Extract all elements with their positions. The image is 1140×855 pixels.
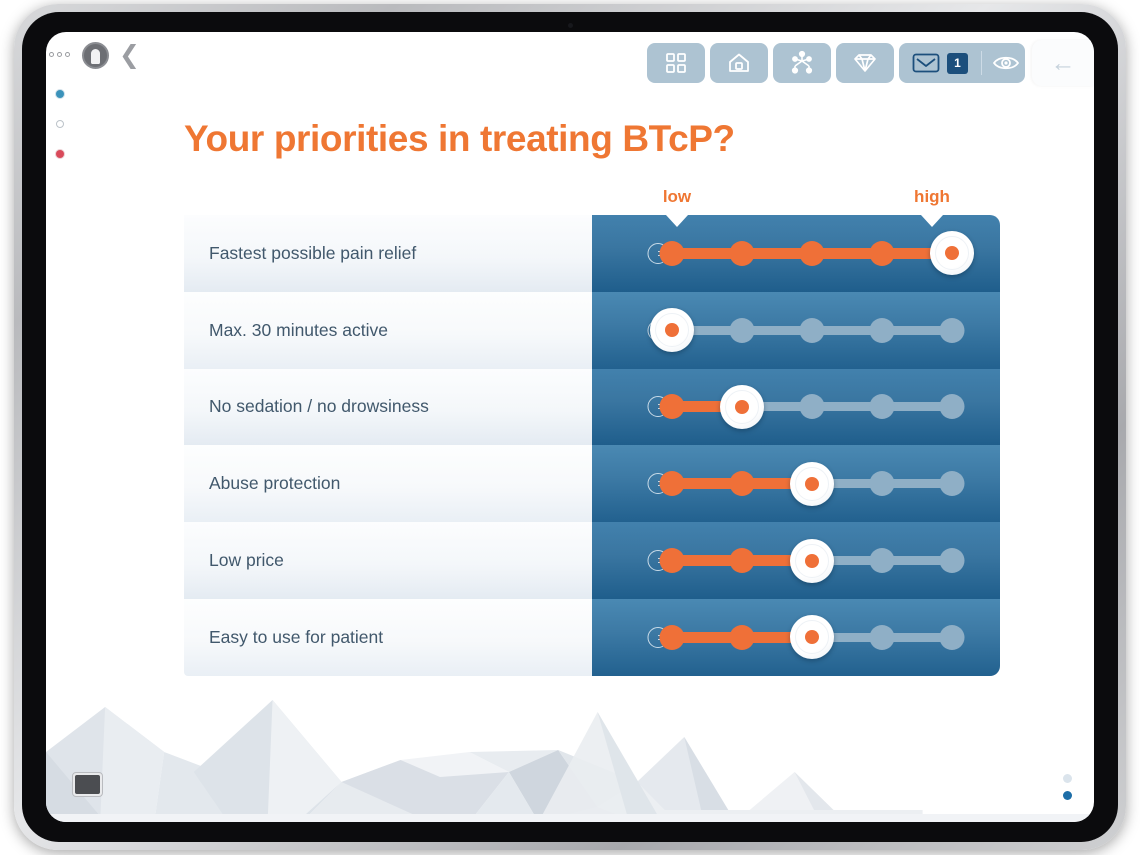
slider-stop-dot[interactable] [870,241,895,266]
slider-stop-dot[interactable] [730,471,755,496]
page-indicator-dots [1063,774,1072,800]
scale-label-high: high [914,187,950,207]
dot [65,52,70,57]
slider-knob-dot [665,323,679,337]
mail-badge: 1 [947,53,968,74]
window-icon-inner [75,775,100,794]
priority-slider[interactable] [592,522,1000,599]
slider-stop-dot[interactable] [870,318,895,343]
slider-knob-dot [805,554,819,568]
scale-notch-high [921,215,943,227]
slider-knob[interactable] [650,308,694,352]
row-slider-cell [592,599,1000,676]
row-label-cell: Low price [184,522,592,599]
left-rail [56,90,74,180]
slider-stop-dot[interactable] [870,548,895,573]
slider-stop-dot[interactable] [660,394,685,419]
slider-stop-dot[interactable] [660,548,685,573]
slider-stop-dot[interactable] [940,318,965,343]
slider-stop-dot[interactable] [800,241,825,266]
mail-button[interactable]: 1 [899,43,1025,83]
slider-stop-dot[interactable] [940,548,965,573]
row-label: Abuse protection [209,473,340,494]
slider-stop-dot[interactable] [660,241,685,266]
app-topbar: ❮ [46,32,1094,94]
slider-knob-dot [805,630,819,644]
row-label: Fastest possible pain relief [209,243,416,264]
slider-stop-dot[interactable] [730,318,755,343]
page-title: Your priorities in treating BTcP? [184,118,735,160]
slider-stop-dot[interactable] [660,471,685,496]
slider-stop-dot[interactable] [870,471,895,496]
slider-stop-dot[interactable] [660,625,685,650]
home-button[interactable] [710,43,768,83]
diamond-button[interactable] [836,43,894,83]
row-label-cell: Abuse protection [184,445,592,522]
slider-stop-dot[interactable] [800,318,825,343]
diamond-icon [851,50,879,76]
arrow-left-icon: ← [1051,51,1076,75]
slider-knob[interactable] [930,231,974,275]
network-button[interactable] [773,43,831,83]
row-slider-cell [592,522,1000,599]
row-label: Low price [209,550,284,571]
back-chevron-icon[interactable]: ❮ [119,44,141,68]
matrix-row: Max. 30 minutes active [184,292,1000,369]
slider-knob[interactable] [720,385,764,429]
page-dot-active[interactable] [1063,791,1072,800]
row-label-cell: Easy to use for patient [184,599,592,676]
app-logo-icon[interactable] [82,42,109,69]
device-bezel: ❮ [22,12,1118,842]
rail-dot-empty[interactable] [56,120,64,128]
page-dot-inactive[interactable] [1063,774,1072,783]
tablet-device-frame: ❮ [14,4,1126,850]
row-label: No sedation / no drowsiness [209,396,429,417]
rail-dot-blue[interactable] [56,90,64,98]
rail-dot-red[interactable] [56,150,64,158]
row-label-cell: Max. 30 minutes active [184,292,592,369]
toolbar-divider [981,51,982,75]
network-icon [788,50,816,76]
mail-icon [911,51,941,75]
slider-knob-dot [735,400,749,414]
slider-track-inactive [742,402,952,411]
scale-notch-low [666,215,688,227]
row-slider-cell [592,369,1000,446]
back-arrow-button[interactable]: ← [1032,40,1094,86]
matrix-row: Fastest possible pain relief [184,215,1000,292]
row-label-cell: Fastest possible pain relief [184,215,592,292]
matrix-row: Easy to use for patient [184,599,1000,676]
slider-knob-dot [805,477,819,491]
slider-stop-dot[interactable] [940,471,965,496]
slider-knob[interactable] [790,615,834,659]
eye-icon[interactable] [991,51,1021,75]
slider-knob[interactable] [790,462,834,506]
more-options-icon[interactable] [49,52,70,57]
slider-stop-dot[interactable] [870,394,895,419]
slider-stop-dot[interactable] [940,625,965,650]
row-label: Max. 30 minutes active [209,320,388,341]
slider-stop-dot[interactable] [730,241,755,266]
dot [49,52,54,57]
grid-button[interactable] [647,43,705,83]
row-slider-cell [592,292,1000,369]
scale-label-low: low [663,187,691,207]
toolbar: 1 ← [647,43,1058,83]
device-screen: ❮ [46,32,1094,822]
matrix-row: Low price [184,522,1000,599]
slider-stop-dot[interactable] [800,394,825,419]
row-label: Easy to use for patient [209,627,383,648]
matrix-row: Abuse protection [184,445,1000,522]
priority-slider[interactable] [592,369,1000,446]
priority-slider[interactable] [592,445,1000,522]
grid-icon [663,50,689,76]
matrix-row: No sedation / no drowsiness [184,369,1000,446]
priority-slider[interactable] [592,292,1000,369]
priority-slider[interactable] [592,599,1000,676]
window-icon[interactable] [72,772,103,797]
dot [57,52,62,57]
slider-stop-dot[interactable] [730,548,755,573]
home-icon [725,50,753,76]
row-slider-cell [592,445,1000,522]
slider-knob-dot [945,246,959,260]
slider-stop-dot[interactable] [940,394,965,419]
row-label-cell: No sedation / no drowsiness [184,369,592,446]
priority-matrix: Fastest possible pain reliefMax. 30 minu… [184,215,1000,672]
slider-stop-dot[interactable] [730,625,755,650]
camera-dot [568,23,573,28]
slider-knob[interactable] [790,539,834,583]
slider-stop-dot[interactable] [870,625,895,650]
